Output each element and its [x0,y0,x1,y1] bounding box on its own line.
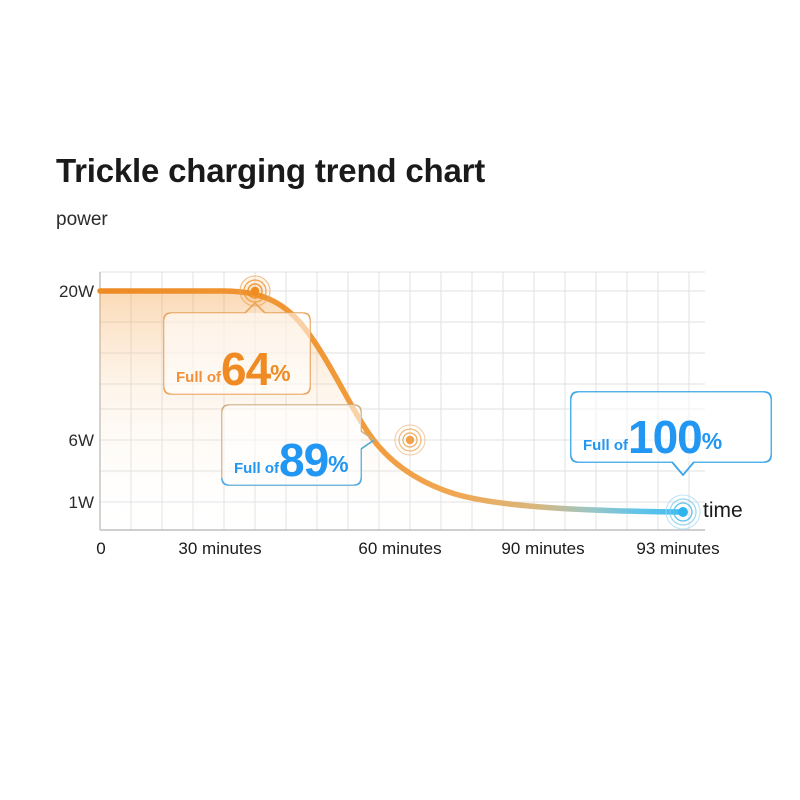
y-tick-1w: 1W [42,493,94,513]
callout-89-unit: % [328,453,348,481]
y-tick-6w: 6W [42,431,94,451]
callout-89-lead: Full of [234,461,279,481]
callout-89-value: 89 [279,440,328,481]
callout-64-value: 64 [221,349,270,390]
callout-100-lead: Full of [583,438,628,458]
x-tick-93min: 93 minutes [636,539,719,559]
callout-100[interactable]: Full of 100 % [571,392,771,462]
x-tick-30min: 30 minutes [178,539,261,559]
x-tick-origin: 0 [96,539,105,559]
chart-canvas: Trickle charging trend chart power [0,0,800,800]
callout-89[interactable]: Full of 89 % [222,405,361,485]
callout-100-unit: % [702,430,722,458]
callout-100-value: 100 [628,417,702,458]
callout-64-unit: % [270,362,290,390]
x-tick-60min: 60 minutes [358,539,441,559]
callout-64-lead: Full of [176,370,221,390]
x-tick-90min: 90 minutes [501,539,584,559]
x-axis-title: time [703,499,743,523]
y-tick-20w: 20W [42,282,94,302]
data-marker-60min[interactable] [395,425,425,455]
callout-64[interactable]: Full of 64 % [164,313,310,394]
